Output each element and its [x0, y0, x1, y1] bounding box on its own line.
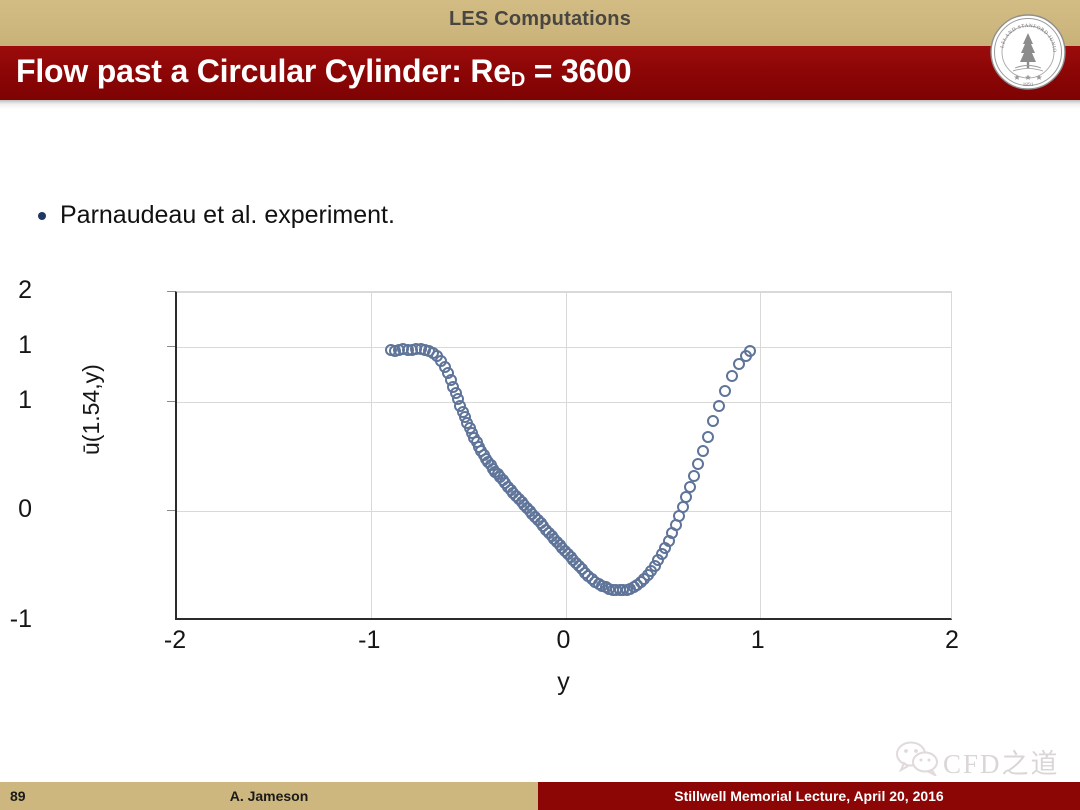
chart-gridline-horizontal — [177, 402, 951, 403]
chart-y-axis-label: ū(1.54,y) — [78, 364, 105, 455]
chart-data-point — [719, 385, 731, 397]
footer-author: A. Jameson — [0, 788, 538, 804]
slide-title-prefix: Flow past a Circular Cylinder: Re — [16, 53, 511, 89]
chart-data-point — [688, 470, 700, 482]
chart-y-tick-mark — [167, 346, 175, 347]
chart-y-tick-label: 1 — [0, 386, 32, 415]
chart-data-point — [680, 491, 692, 503]
chart-data-point — [726, 370, 738, 382]
slide-title-subscript: D — [511, 69, 525, 91]
chart-gridline-horizontal — [177, 292, 951, 293]
bullet-dot-icon — [38, 212, 46, 220]
chart-data-point — [702, 431, 714, 443]
chart-y-tick-label: 0 — [0, 495, 32, 524]
chart-y-tick-label: 2 — [0, 276, 32, 305]
chart-data-point — [692, 458, 704, 470]
chart-x-tick-label: -2 — [135, 626, 215, 655]
chart-y-tick-mark — [167, 510, 175, 511]
chart-y-tick-label: -1 — [0, 605, 32, 634]
chart-x-tick-label: 1 — [718, 626, 798, 655]
chart-y-tick-mark — [167, 401, 175, 402]
cfd-watermark: CFD之道 — [895, 740, 1067, 782]
chart-x-tick-label: 0 — [524, 626, 604, 655]
svg-text:1891: 1891 — [1023, 82, 1034, 88]
footer-lecture-title: Stillwell Memorial Lecture, April 20, 20… — [538, 788, 1080, 804]
bullet-text: Parnaudeau et al. experiment. — [60, 200, 395, 230]
page-title: Flow past a Circular Cylinder: ReD = 360… — [16, 53, 631, 90]
wechat-icon — [895, 740, 941, 776]
chart-data-point — [697, 445, 709, 457]
chart-gridline-vertical — [566, 292, 567, 618]
chart-x-tick-label: -1 — [329, 626, 409, 655]
chart-x-axis-label: y — [175, 668, 952, 697]
chart-x-tick-label: 2 — [912, 626, 992, 655]
title-band-shadow — [0, 100, 1080, 109]
chart-data-point — [744, 345, 756, 357]
watermark-text: CFD之道 — [943, 742, 1060, 781]
chart-data-point — [684, 481, 696, 493]
chart-plot-area — [175, 291, 952, 620]
slide-footer: 89 A. Jameson Stillwell Memorial Lecture… — [0, 782, 1080, 810]
chart-gridline-vertical — [371, 292, 372, 618]
stanford-seal-logo: LELAND STANFORD JUNIOR UNIVERSITY 1891 — [989, 13, 1067, 91]
chart-data-point — [713, 400, 725, 412]
section-title: LES Computations — [0, 8, 1080, 31]
chart-gridline-vertical — [760, 292, 761, 618]
slide-title-suffix: = 3600 — [525, 53, 631, 89]
chart-gridline-horizontal — [177, 511, 951, 512]
chart-data-point — [707, 415, 719, 427]
chart-y-tick-label: 1 — [0, 331, 32, 360]
chart-gridline-horizontal — [177, 347, 951, 348]
bullet-list-item: Parnaudeau et al. experiment. — [38, 200, 938, 230]
chart-y-tick-mark — [167, 291, 175, 292]
velocity-profile-chart: ū(1.54,y) y -10112-2-1012 — [0, 270, 1000, 700]
